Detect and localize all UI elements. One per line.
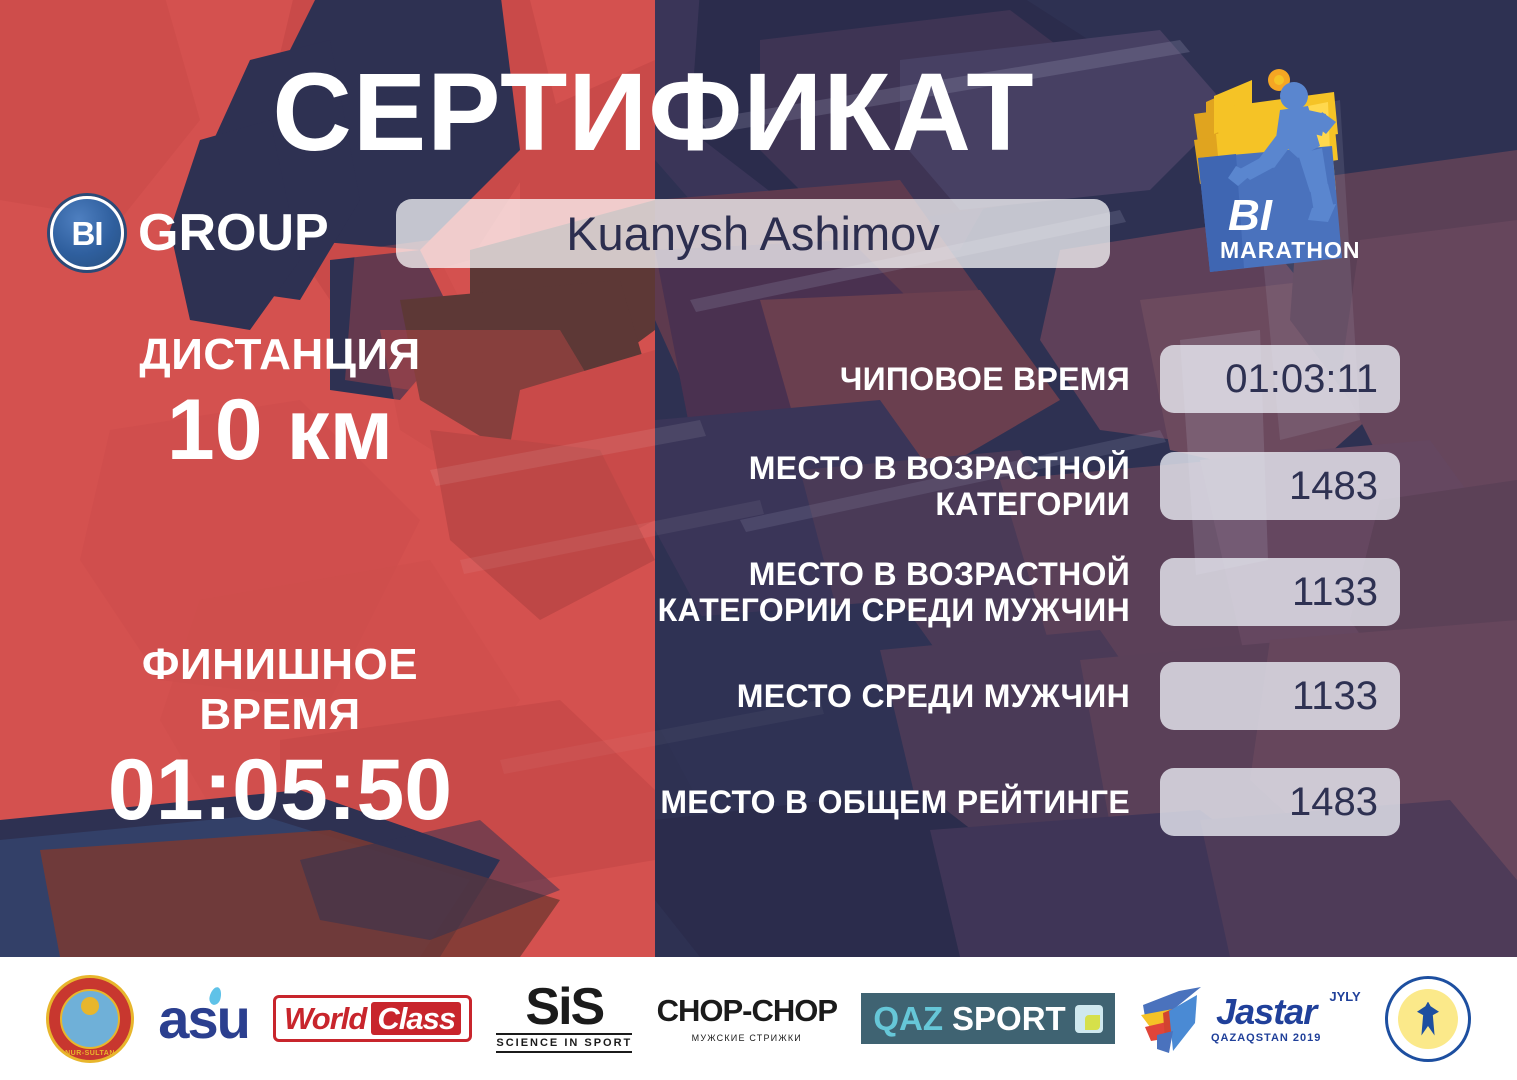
- chop-chop-tagline: МУЖСКИЕ СТРИЖКИ: [692, 1033, 802, 1043]
- stat-row-age-category-men-place: МЕСТО В ВОЗРАСТНОЙ КАТЕГОРИИ СРЕДИ МУЖЧИ…: [560, 556, 1400, 628]
- stat-value: 1483: [1289, 466, 1378, 506]
- ministry-emblem-icon: [1385, 976, 1471, 1062]
- finish-time-block: ФИНИШНОЕ ВРЕМЯ 01:05:50: [0, 640, 560, 836]
- sponsor-sis: SiS SCIENCE IN SPORT: [496, 969, 632, 1069]
- stat-value: 1483: [1289, 782, 1378, 822]
- distance-value: 10 км: [0, 384, 560, 476]
- stat-label: ЧИПОВОЕ ВРЕМЯ: [560, 361, 1160, 397]
- stat-row-overall-place: МЕСТО В ОБЩЕМ РЕЙТИНГЕ 1483: [560, 768, 1400, 836]
- bi-group-wordmark: GROUP: [138, 207, 329, 259]
- sponsor-world-class: World Class: [273, 969, 472, 1069]
- jastar-logo: Jastar QAZAQSTAN 2019 JYLY: [1139, 983, 1361, 1055]
- athlete-name-plate: Kuanysh Ashimov: [396, 199, 1110, 268]
- sponsor-nur-sultan: NUR-SULTAN: [46, 969, 134, 1069]
- jastar-text: Jastar: [1216, 994, 1316, 1030]
- stat-value: 01:03:11: [1225, 359, 1378, 399]
- qazsport-text1: QAZ: [873, 1002, 943, 1035]
- world-class-text1: World: [284, 1003, 366, 1034]
- distance-label: ДИСТАНЦИЯ: [0, 330, 560, 380]
- asu-text: asu: [158, 991, 249, 1047]
- sponsor-asu: asu: [158, 969, 249, 1069]
- bi-marathon-svg: BI MARATHON: [1176, 62, 1372, 302]
- certificate-canvas: СЕРТИФИКАТ BI GROUP Kuanysh Ashimov: [0, 0, 1517, 1080]
- sis-text: SiS: [525, 984, 603, 1031]
- distance-block: ДИСТАНЦИЯ 10 км: [0, 330, 560, 476]
- stat-label: МЕСТО СРЕДИ МУЖЧИН: [560, 678, 1160, 714]
- stat-value-box: 01:03:11: [1160, 345, 1400, 413]
- jastar-subtext: QAZAQSTAN 2019: [1211, 1033, 1321, 1044]
- stat-value-box: 1483: [1160, 452, 1400, 520]
- stat-value-box: 1483: [1160, 768, 1400, 836]
- sponsor-ministry-of-culture-and-sport: [1385, 969, 1471, 1069]
- stat-label: МЕСТО В ВОЗРАСТНОЙ КАТЕГОРИИ СРЕДИ МУЖЧИ…: [560, 556, 1160, 628]
- stat-row-age-category-place: МЕСТО В ВОЗРАСТНОЙ КАТЕГОРИИ 1483: [560, 450, 1400, 522]
- qazsport-square-icon: [1075, 1005, 1103, 1033]
- finish-time-value: 01:05:50: [0, 744, 560, 836]
- stat-value-box: 1133: [1160, 558, 1400, 626]
- sis-tagline: SCIENCE IN SPORT: [496, 1033, 632, 1053]
- bi-badge-icon: BI: [50, 196, 124, 270]
- nur-sultan-emblem-text: NUR-SULTAN: [49, 1050, 131, 1057]
- stat-label: МЕСТО В ВОЗРАСТНОЙ КАТЕГОРИИ: [560, 450, 1160, 522]
- stat-value: 1133: [1292, 572, 1378, 612]
- world-class-wordmark: World Class: [273, 995, 472, 1042]
- asu-wordmark: asu: [158, 991, 249, 1047]
- qazsport-text2: SPORT: [952, 1002, 1066, 1035]
- bi-group-logo: BI GROUP: [50, 196, 329, 270]
- chop-chop-text: CHOP-CHOP: [657, 995, 837, 1026]
- nur-sultan-emblem-icon: NUR-SULTAN: [46, 975, 134, 1063]
- jastar-bird-icon: [1139, 983, 1203, 1055]
- world-class-text2: Class: [371, 1002, 461, 1035]
- stat-label: МЕСТО В ОБЩЕМ РЕЙТИНГЕ: [560, 784, 1160, 820]
- jastar-jyly-text: JYLY: [1329, 989, 1360, 1004]
- bi-marathon-logo: BI MARATHON: [1176, 62, 1372, 302]
- chop-chop-wordmark: CHOP-CHOP МУЖСКИЕ СТРИЖКИ: [657, 995, 837, 1043]
- sponsor-qazsport: QAZ SPORT: [861, 969, 1114, 1069]
- bi-badge-text: BI: [72, 217, 103, 250]
- sponsor-bar: NUR-SULTAN asu World Class SiS SCIENCE I…: [0, 957, 1517, 1080]
- finish-time-label-line1: ФИНИШНОЕ: [0, 640, 560, 690]
- stat-value-box: 1133: [1160, 662, 1400, 730]
- sis-wordmark: SiS SCIENCE IN SPORT: [496, 984, 632, 1054]
- stat-row-men-place: МЕСТО СРЕДИ МУЖЧИН 1133: [560, 662, 1400, 730]
- finish-time-label-line2: ВРЕМЯ: [0, 690, 560, 740]
- sponsor-chop-chop: CHOP-CHOP МУЖСКИЕ СТРИЖКИ: [657, 969, 837, 1069]
- bi-marathon-bi-text: BI: [1228, 191, 1273, 240]
- athlete-name: Kuanysh Ashimov: [566, 210, 940, 257]
- bi-marathon-marathon-text: MARATHON: [1220, 237, 1360, 263]
- qazsport-wordmark: QAZ SPORT: [861, 993, 1114, 1044]
- stat-value: 1133: [1292, 676, 1378, 716]
- stat-row-chip-time: ЧИПОВОЕ ВРЕМЯ 01:03:11: [560, 345, 1400, 413]
- sponsor-jastar-jyly: Jastar QAZAQSTAN 2019 JYLY: [1139, 969, 1361, 1069]
